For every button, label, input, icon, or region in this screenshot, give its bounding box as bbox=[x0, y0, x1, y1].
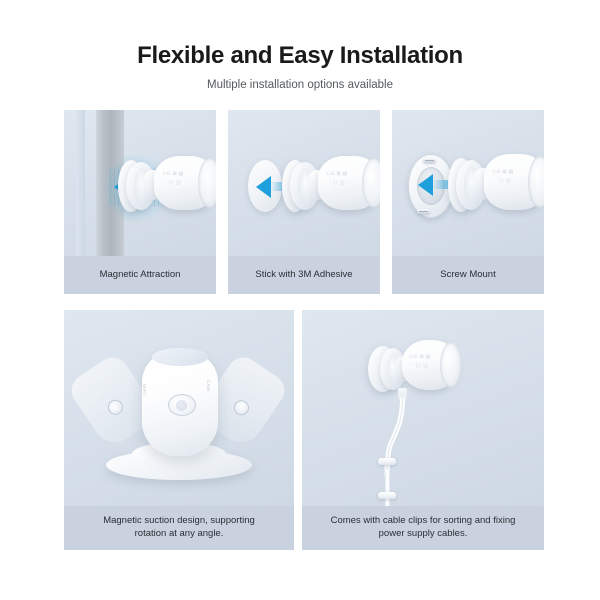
power-cable-lower-icon bbox=[385, 470, 390, 506]
panel-cable-caption-line2: power supply cables. bbox=[325, 528, 522, 541]
page-subtitle: Multiple installation options available bbox=[0, 70, 600, 93]
panel-screw-illustration: ⊂∈ ⊠ ▤ ⌒ ◎ ▥ bbox=[392, 110, 544, 256]
device-certification-marks-row2-icon: ⌒ ◎ ▥ bbox=[492, 179, 511, 184]
camera-lens-icon bbox=[168, 394, 196, 416]
panel-cable-caption: Comes with cable clips for sorting and f… bbox=[302, 506, 544, 550]
panel-cable-caption-line1: Comes with cable clips for sorting and f… bbox=[325, 515, 522, 528]
panel-magnetic-caption: Magnetic Attraction bbox=[64, 256, 216, 294]
device-certification-marks-icon: ⊂∈ ⊠ ▤ bbox=[492, 170, 513, 175]
camera-top-cap-icon bbox=[152, 348, 208, 366]
screw-icon-top bbox=[423, 158, 436, 163]
panel-adhesive-caption: Stick with 3M Adhesive bbox=[228, 256, 380, 294]
device-certification-marks-row2-icon: ⌒ ◎ ▥ bbox=[409, 364, 428, 369]
panel-rotation-caption: Magnetic suction design, supporting rota… bbox=[64, 506, 294, 550]
panel-screw-mount[interactable]: ⊂∈ ⊠ ▤ ⌒ ◎ ▥ Screw Mount bbox=[392, 110, 544, 294]
camera-side-label-right-icon: CAM bbox=[206, 380, 211, 391]
panel-cable-illustration: ⊂∈ ⊠ ▤ ⌒ ◎ ▥ bbox=[302, 310, 544, 506]
device-certification-marks-icon: ⊂∈ ⊠ ▤ bbox=[162, 172, 183, 177]
panel-adhesive-caption-text: Stick with 3M Adhesive bbox=[249, 269, 358, 282]
panel-magnetic-illustration: ⊂∈ ⊠ ▤ ⌒ ◎ ▥ bbox=[64, 110, 216, 256]
panel-magnetic-attraction[interactable]: ⊂∈ ⊠ ▤ ⌒ ◎ ▥ Magnetic Attraction bbox=[64, 110, 216, 294]
camera-bullet-icon: ⊂∈ ⊠ ▤ ⌒ ◎ ▥ bbox=[282, 150, 380, 226]
panel-rotation-illustration: WIFI CAM bbox=[64, 310, 294, 506]
panel-rotation-caption-line1: Magnetic suction design, supporting bbox=[97, 515, 261, 528]
panel-screw-caption: Screw Mount bbox=[392, 256, 544, 294]
panel-rotation-caption-line2: rotation at any angle. bbox=[97, 528, 261, 541]
panel-adhesive-mount[interactable]: ⊂∈ ⊠ ▤ ⌒ ◎ ▥ Stick with 3M Adhesive bbox=[228, 110, 380, 294]
panel-rotation-design[interactable]: WIFI CAM Magnetic suction design, suppor… bbox=[64, 310, 294, 550]
device-certification-marks-icon: ⊂∈ ⊠ ▤ bbox=[326, 172, 347, 177]
camera-bullet-icon: ⊂∈ ⊠ ▤ ⌒ ◎ ▥ bbox=[448, 148, 544, 226]
cable-clip-icon-lower bbox=[378, 492, 396, 499]
page-title: Flexible and Easy Installation bbox=[0, 0, 600, 70]
device-certification-marks-row2-icon: ⌒ ◎ ▥ bbox=[162, 181, 181, 186]
header: Flexible and Easy Installation Multiple … bbox=[0, 0, 600, 92]
wall-edge-icon bbox=[76, 110, 85, 256]
panel-cable-clips[interactable]: ⊂∈ ⊠ ▤ ⌒ ◎ ▥ Comes with cable clips for … bbox=[302, 310, 544, 550]
panel-screw-caption-text: Screw Mount bbox=[434, 269, 501, 282]
cable-clip-icon-upper bbox=[378, 458, 396, 465]
panel-adhesive-illustration: ⊂∈ ⊠ ▤ ⌒ ◎ ▥ bbox=[228, 110, 380, 256]
device-certification-marks-row2-icon: ⌒ ◎ ▥ bbox=[326, 181, 345, 186]
device-certification-marks-icon: ⊂∈ ⊠ ▤ bbox=[409, 355, 430, 360]
camera-side-label-left-icon: WIFI bbox=[142, 384, 147, 395]
camera-bullet-icon: ⊂∈ ⊠ ▤ ⌒ ◎ ▥ bbox=[118, 148, 216, 226]
panel-magnetic-caption-text: Magnetic Attraction bbox=[94, 269, 187, 282]
screw-icon-bottom bbox=[417, 209, 430, 214]
